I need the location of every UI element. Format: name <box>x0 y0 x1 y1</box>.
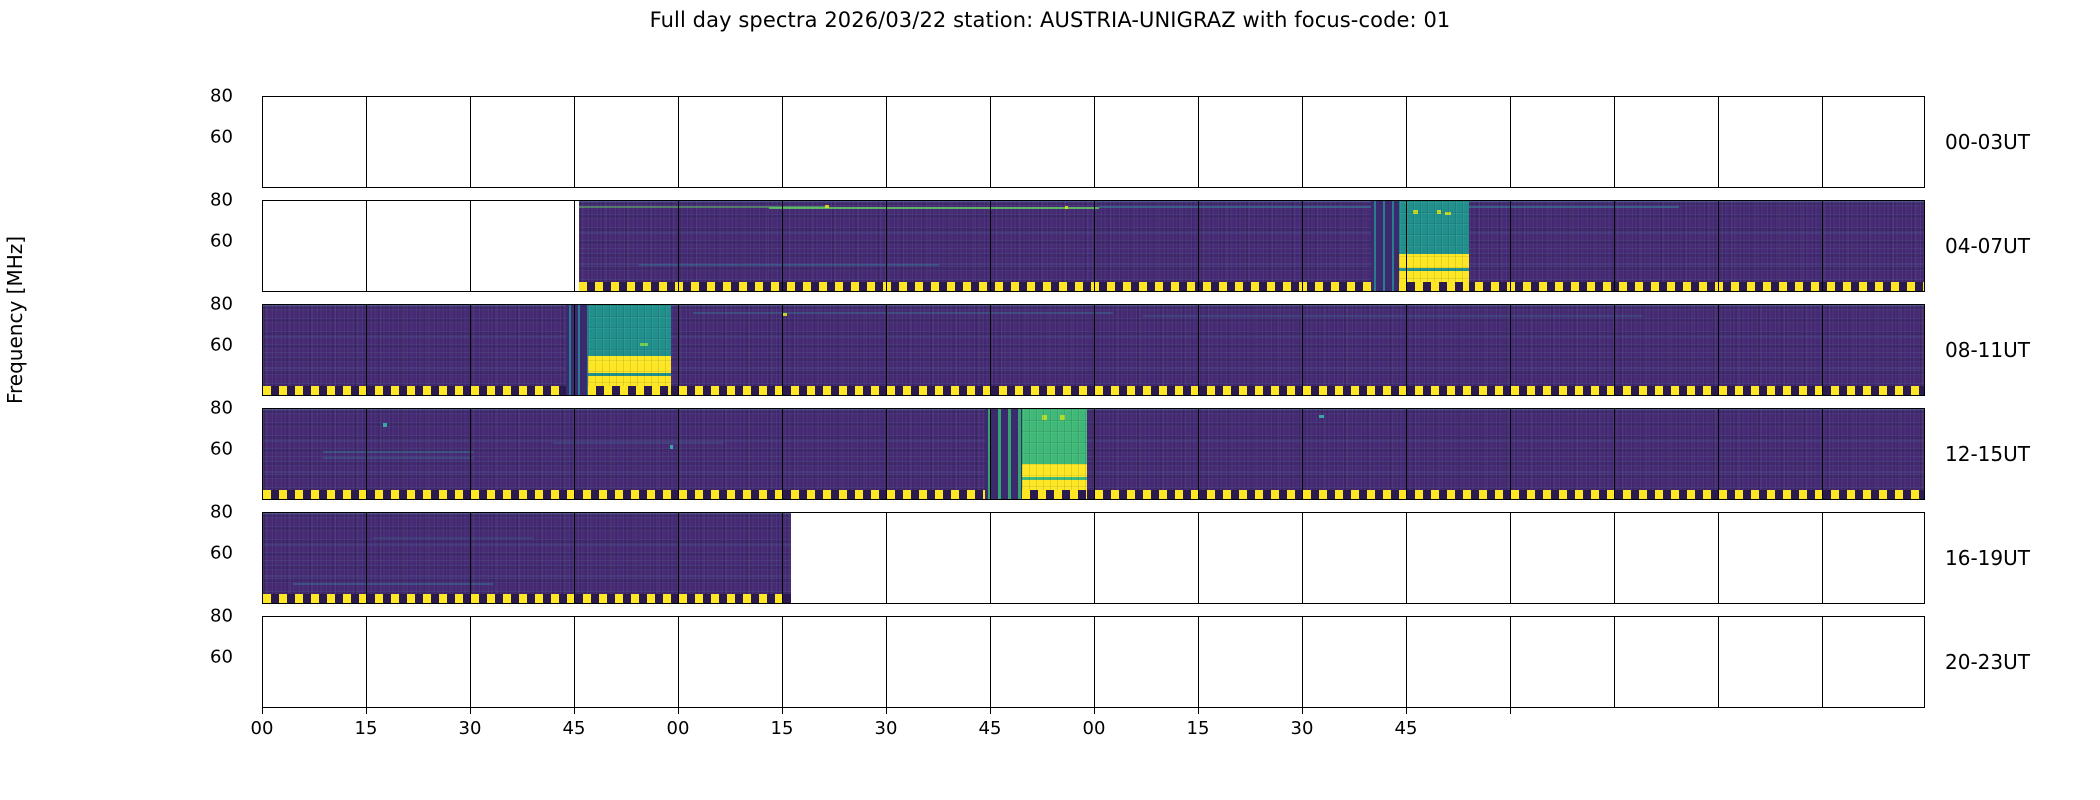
x-tick-9 <box>1198 708 1199 714</box>
spectrogram-data-row-1 <box>579 201 1924 291</box>
y-axis-label-text: Frequency [MHz] <box>3 236 27 404</box>
x-tick-label-8: 00 <box>1083 718 1106 739</box>
x-tick-8 <box>1094 708 1095 714</box>
burst-leadbars-row-2 <box>566 305 588 395</box>
panel-row-4[interactable] <box>262 512 1925 604</box>
x-tick-5 <box>782 708 783 714</box>
x-tick-label-9: 15 <box>1187 718 1210 739</box>
x-tick-label-5: 15 <box>771 718 794 739</box>
row-label-2: 08-11UT <box>1945 338 2030 362</box>
x-tick-6 <box>886 708 887 714</box>
x-tick-label-4: 00 <box>667 718 690 739</box>
x-tick-3 <box>574 708 575 714</box>
x-tick-1 <box>366 708 367 714</box>
spectrogram-figure: Full day spectra 2026/03/22 station: AUS… <box>0 0 2100 800</box>
row-label-5: 20-23UT <box>1945 650 2030 674</box>
panel-row-1[interactable] <box>262 200 1925 292</box>
row-label-1: 04-07UT <box>1945 234 2030 258</box>
row-label-4: 16-19UT <box>1945 546 2030 570</box>
y-axis-label: Frequency [MHz] <box>0 0 30 640</box>
burst-row-1 <box>1399 201 1469 291</box>
panel-row-0[interactable] <box>262 96 1925 188</box>
x-tick-label-0: 00 <box>251 718 274 739</box>
page-title: Full day spectra 2026/03/22 station: AUS… <box>0 8 2100 32</box>
x-tick-label-6: 30 <box>875 718 898 739</box>
x-tick-label-3: 45 <box>563 718 586 739</box>
burst-leadbars-row-1 <box>1371 201 1399 291</box>
x-tick-label-2: 30 <box>459 718 482 739</box>
x-tick-12 <box>1510 708 1511 714</box>
x-tick-label-1: 15 <box>355 718 378 739</box>
row-label-0: 00-03UT <box>1945 130 2030 154</box>
spectrogram-data-row-4 <box>263 513 791 603</box>
x-tick-11 <box>1406 708 1407 714</box>
x-tick-7 <box>990 708 991 714</box>
x-tick-label-11: 45 <box>1395 718 1418 739</box>
x-tick-label-10: 30 <box>1291 718 1314 739</box>
panel-row-5[interactable] <box>262 616 1925 708</box>
x-tick-label-7: 45 <box>979 718 1002 739</box>
burst-row-3 <box>1022 409 1087 499</box>
panel-row-3[interactable] <box>262 408 1925 500</box>
x-tick-2 <box>470 708 471 714</box>
panel-row-2[interactable] <box>262 304 1925 396</box>
x-tick-10 <box>1302 708 1303 714</box>
x-tick-4 <box>678 708 679 714</box>
x-tick-0 <box>262 708 263 714</box>
row-label-3: 12-15UT <box>1945 442 2030 466</box>
burst-row-2 <box>588 305 671 395</box>
